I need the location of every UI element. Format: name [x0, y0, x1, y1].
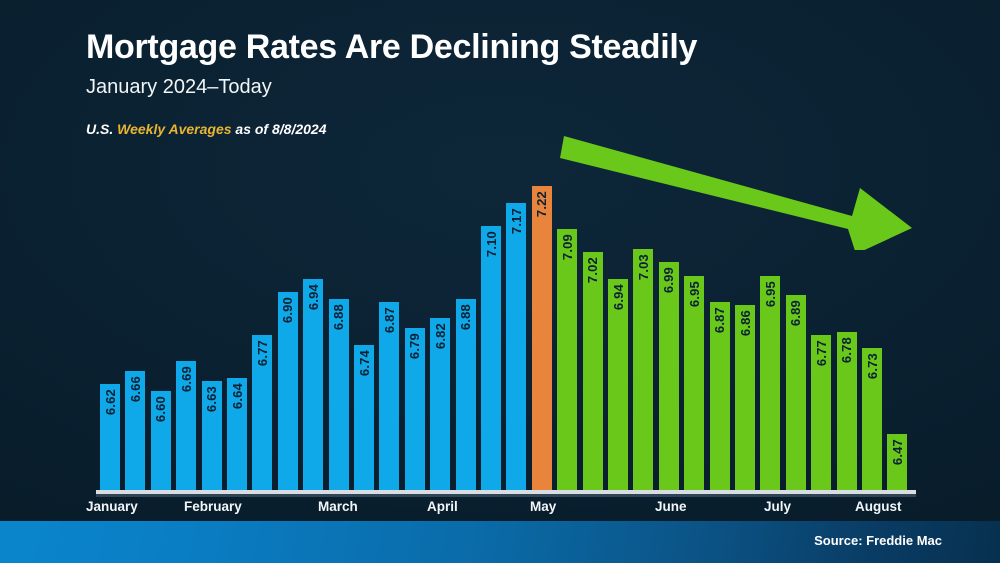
chart-note-accent: Weekly Averages [117, 121, 231, 137]
chart-bar[interactable]: 6.95 [684, 276, 704, 491]
bar-slot: 6.63 [202, 381, 222, 490]
chart-bar[interactable]: 6.74 [354, 345, 374, 490]
bar-value-label: 7.22 [534, 191, 549, 217]
bar-value-label: 6.87 [382, 307, 397, 333]
chart-bar[interactable]: 6.88 [329, 299, 349, 490]
bar-value-label: 6.78 [839, 337, 854, 363]
bar-slot: 6.82 [430, 318, 450, 490]
bar-slot: 6.60 [151, 391, 171, 490]
page-title: Mortgage Rates Are Declining Steadily [86, 28, 946, 67]
bar-chart-plot-area: 6.626.666.606.696.636.646.776.906.946.88… [100, 160, 912, 490]
chart-bar[interactable]: 6.62 [100, 384, 120, 490]
bar-slot: 6.74 [354, 345, 374, 490]
chart-bar[interactable]: 6.73 [862, 348, 882, 490]
bar-value-label: 6.73 [865, 353, 880, 379]
chart-bar[interactable]: 6.99 [659, 262, 679, 490]
bar-value-label: 6.47 [890, 439, 905, 465]
bar-value-label: 6.86 [738, 310, 753, 336]
chart-note-suffix: as of 8/8/2024 [232, 121, 327, 137]
chart-bar[interactable]: 7.17 [506, 203, 526, 490]
bar-slot: 6.73 [862, 348, 882, 490]
chart-bar[interactable]: 6.95 [760, 276, 780, 491]
bar-value-label: 6.94 [306, 284, 321, 310]
bar-slot: 7.10 [481, 226, 501, 490]
bar-value-label: 6.89 [788, 300, 803, 326]
x-axis-label-march: March [318, 499, 358, 514]
bar-value-label: 6.87 [712, 307, 727, 333]
bar-slot: 6.94 [608, 279, 628, 490]
chart-bar[interactable]: 6.69 [176, 361, 196, 490]
chart-bar[interactable]: 6.88 [456, 299, 476, 490]
bar-value-label: 7.03 [636, 254, 651, 280]
bar-slot: 6.79 [405, 328, 425, 490]
bar-slot: 6.66 [125, 371, 145, 490]
chart-bar[interactable]: 6.78 [837, 332, 857, 490]
chart-bar[interactable]: 6.87 [710, 302, 730, 490]
chart-bar[interactable]: 6.77 [811, 335, 831, 490]
bar-value-label: 6.88 [458, 304, 473, 330]
bar-slot: 7.03 [633, 249, 653, 490]
bar-slot: 6.87 [710, 302, 730, 490]
bar-value-label: 6.95 [687, 281, 702, 307]
chart-bar[interactable]: 6.89 [786, 295, 806, 490]
bar-value-label: 6.99 [661, 267, 676, 293]
x-axis-label-january: January [86, 499, 138, 514]
bar-slot: 6.77 [811, 335, 831, 490]
bar-value-label: 6.94 [611, 284, 626, 310]
bar-slot: 6.69 [176, 361, 196, 490]
bar-slot: 7.17 [506, 203, 526, 490]
chart-bar[interactable]: 6.79 [405, 328, 425, 490]
x-axis-label-august: August [855, 499, 902, 514]
footer-bar: Source: Freddie Mac [0, 521, 1000, 563]
chart-bar[interactable]: 6.60 [151, 391, 171, 490]
bar-slot: 6.99 [659, 262, 679, 490]
bar-value-label: 6.64 [230, 383, 245, 409]
x-axis-label-june: June [655, 499, 687, 514]
chart-bar[interactable]: 7.03 [633, 249, 653, 490]
chart-bar[interactable]: 6.94 [303, 279, 323, 490]
bar-slot: 6.86 [735, 305, 755, 490]
bar-slot: 7.22 [532, 186, 552, 490]
source-attribution: Source: Freddie Mac [814, 533, 942, 548]
chart-note-prefix: U.S. [86, 121, 117, 137]
bar-value-label: 7.10 [484, 231, 499, 257]
bar-slot: 6.89 [786, 295, 806, 490]
bar-slot: 6.88 [456, 299, 476, 490]
bar-value-label: 6.66 [128, 376, 143, 402]
bar-slot: 7.09 [557, 229, 577, 490]
chart-bar[interactable]: 6.47 [887, 434, 907, 490]
chart-bar[interactable]: 7.09 [557, 229, 577, 490]
bar-value-label: 6.82 [433, 323, 448, 349]
x-axis-line [96, 490, 916, 494]
x-axis-label-may: May [530, 499, 556, 514]
bar-value-label: 6.77 [814, 340, 829, 366]
bar-value-label: 6.62 [103, 389, 118, 415]
bar-value-label: 6.60 [153, 396, 168, 422]
bar-value-label: 6.90 [280, 297, 295, 323]
chart-note: U.S. Weekly Averages as of 8/8/2024 [86, 121, 946, 137]
chart-bar[interactable]: 6.63 [202, 381, 222, 490]
x-axis-label-april: April [427, 499, 458, 514]
bar-slot: 6.78 [837, 332, 857, 490]
bar-value-label: 7.17 [509, 208, 524, 234]
bar-slot: 6.64 [227, 378, 247, 490]
bar-value-label: 6.69 [179, 366, 194, 392]
x-axis-label-february: February [184, 499, 242, 514]
bar-slot: 6.77 [252, 335, 272, 490]
chart-bar[interactable]: 6.77 [252, 335, 272, 490]
bar-value-label: 6.63 [204, 386, 219, 412]
chart-bar[interactable]: 6.66 [125, 371, 145, 490]
bar-slot: 6.95 [684, 276, 704, 491]
bar-slot: 6.90 [278, 292, 298, 490]
x-axis-label-july: July [764, 499, 791, 514]
bar-value-label: 6.79 [407, 333, 422, 359]
chart-bar[interactable]: 6.87 [379, 302, 399, 490]
chart-bar[interactable]: 7.22 [532, 186, 552, 490]
bar-value-label: 6.77 [255, 340, 270, 366]
chart-bar[interactable]: 7.02 [583, 252, 603, 490]
chart-bar[interactable]: 6.94 [608, 279, 628, 490]
chart-header: Mortgage Rates Are Declining Steadily Ja… [86, 28, 946, 137]
bar-slot: 6.95 [760, 276, 780, 491]
chart-subtitle: January 2024–Today [86, 75, 946, 99]
chart-bar[interactable]: 6.86 [735, 305, 755, 490]
chart-bar[interactable]: 6.64 [227, 378, 247, 490]
bar-slot: 7.02 [583, 252, 603, 490]
bar-value-label: 7.02 [585, 257, 600, 283]
bar-slot: 6.88 [329, 299, 349, 490]
bar-slot: 6.87 [379, 302, 399, 490]
bar-value-label: 6.74 [357, 350, 372, 376]
chart-bar[interactable]: 6.82 [430, 318, 450, 490]
chart-bar[interactable]: 7.10 [481, 226, 501, 490]
x-axis-month-labels: JanuaryFebruaryMarchAprilMayJuneJulyAugu… [0, 499, 1000, 521]
chart-bar[interactable]: 6.90 [278, 292, 298, 490]
bar-value-label: 6.95 [763, 281, 778, 307]
bar-value-label: 7.09 [560, 234, 575, 260]
bar-slot: 6.94 [303, 279, 323, 490]
bar-slot: 6.62 [100, 384, 120, 490]
bar-value-label: 6.88 [331, 304, 346, 330]
bar-slot: 6.47 [887, 434, 907, 490]
